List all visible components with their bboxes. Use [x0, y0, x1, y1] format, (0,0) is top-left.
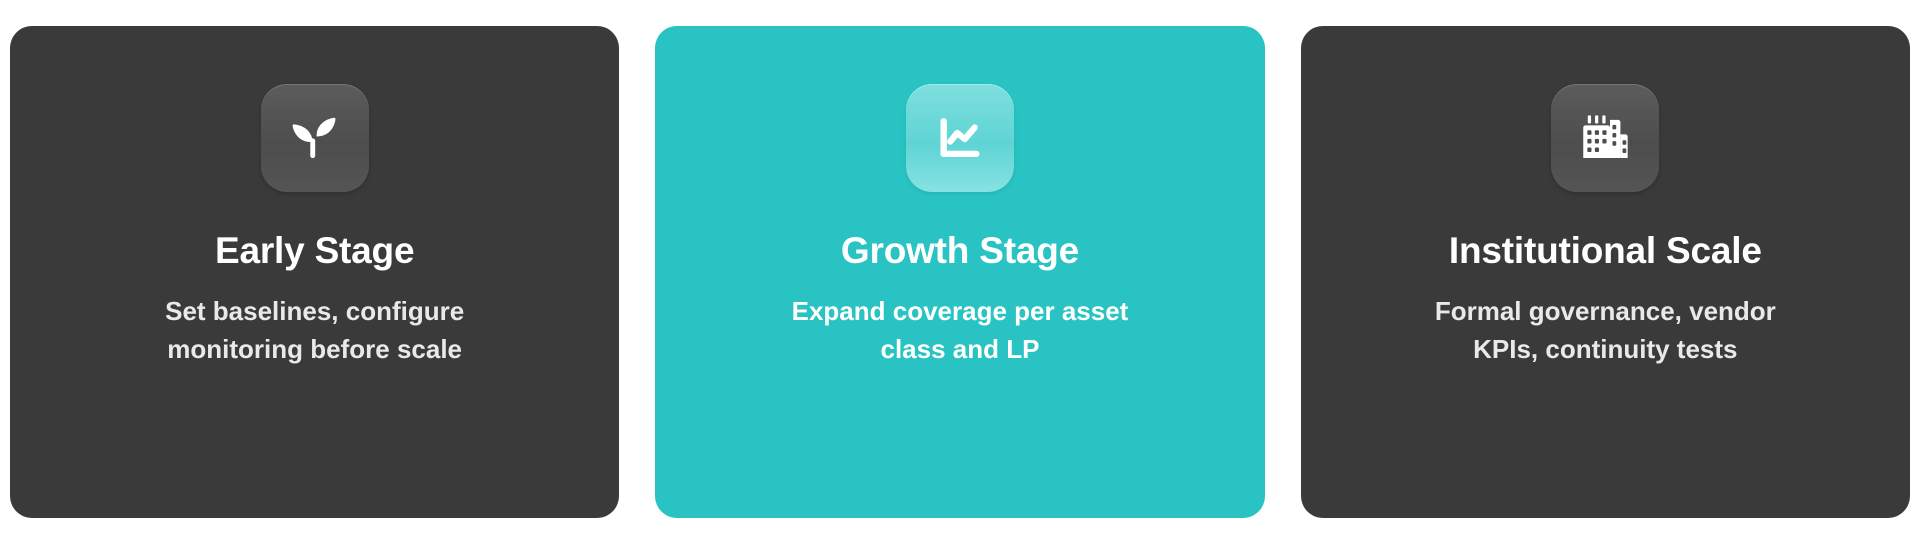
card-description: Set baselines, configure monitoring befo… — [125, 293, 505, 368]
line-chart-icon — [931, 109, 989, 167]
sprout-icon — [286, 109, 344, 167]
stage-card-institutional-scale[interactable]: Institutional Scale Formal governance, v… — [1301, 26, 1910, 518]
card-title: Growth Stage — [841, 230, 1079, 271]
buildings-icon — [1576, 109, 1634, 167]
card-title: Institutional Scale — [1449, 230, 1762, 271]
icon-tile-growth-stage — [906, 84, 1014, 192]
stage-card-growth-stage[interactable]: Growth Stage Expand coverage per asset c… — [655, 26, 1264, 518]
icon-tile-early-stage — [261, 84, 369, 192]
card-title: Early Stage — [215, 230, 414, 271]
stage-card-early-stage[interactable]: Early Stage Set baselines, configure mon… — [10, 26, 619, 518]
icon-tile-institutional-scale — [1551, 84, 1659, 192]
card-description: Formal governance, vendor KPIs, continui… — [1415, 293, 1795, 368]
stage-cards-grid: Early Stage Set baselines, configure mon… — [0, 0, 1920, 542]
card-description: Expand coverage per asset class and LP — [770, 293, 1150, 368]
